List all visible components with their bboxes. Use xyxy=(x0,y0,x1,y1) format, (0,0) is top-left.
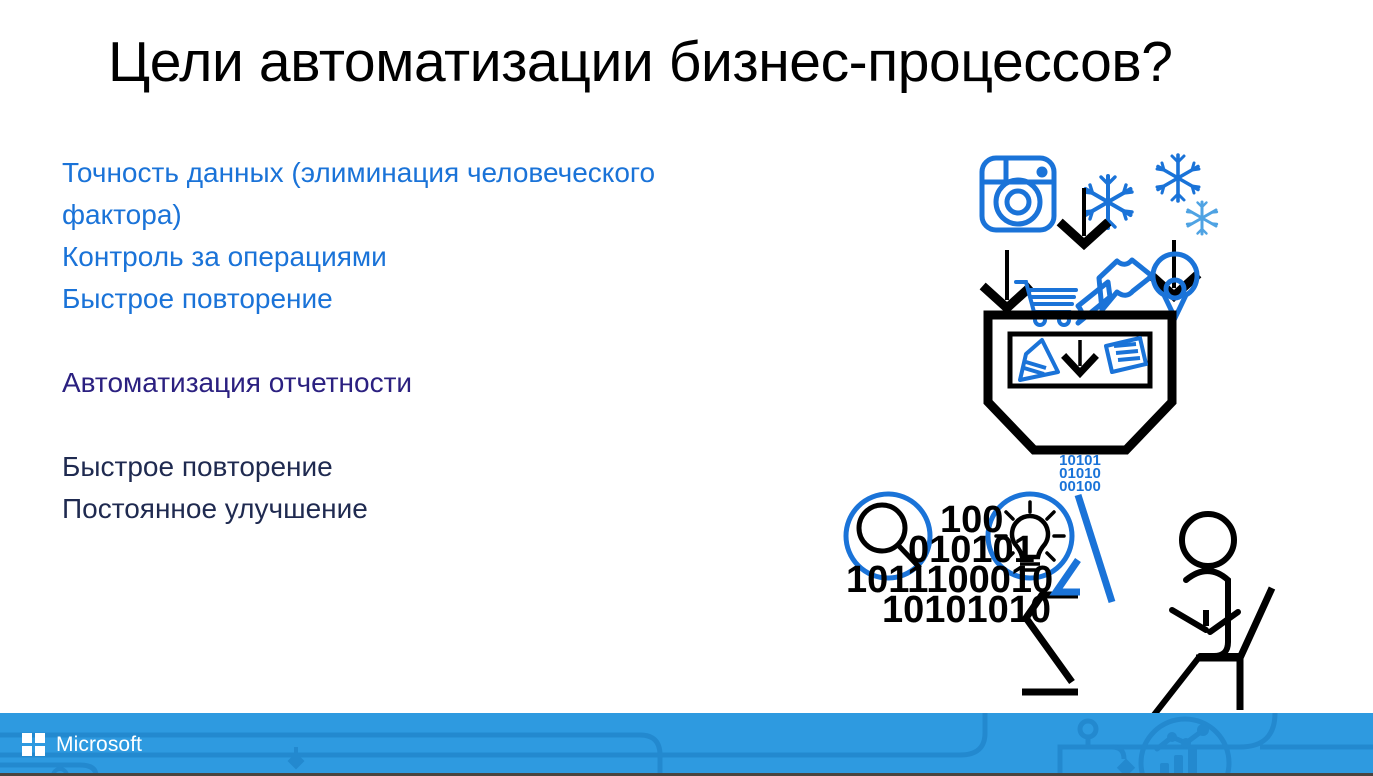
arrow-down-icon xyxy=(1153,240,1195,296)
page-title: Цели автоматизации бизнес-процессов? xyxy=(108,30,1288,96)
logo-square xyxy=(22,746,32,756)
footer-bar: Microsoft xyxy=(0,713,1373,776)
block-spacer xyxy=(62,320,822,362)
document-icon xyxy=(1020,340,1058,380)
binary-line: 10101010 xyxy=(882,589,1051,631)
microsoft-wordmark: Microsoft xyxy=(56,733,142,757)
goals-accuracy-block: Точность данных (элиминация человеческог… xyxy=(62,152,822,320)
text-line: Контроль за операциями xyxy=(62,236,822,278)
funnel-binary-text: 10101 01010 00100 xyxy=(1059,452,1101,495)
text-line: Быстрое повторение xyxy=(62,446,822,488)
text-line: Постоянное улучшение xyxy=(62,488,822,530)
logo-square xyxy=(35,746,45,756)
snowflake-icon xyxy=(1187,202,1217,234)
content-body: Точность данных (элиминация человеческог… xyxy=(62,152,822,530)
goals-reporting-block: Автоматизация отчетности xyxy=(62,362,822,404)
snowflake-icon xyxy=(1157,155,1199,201)
footer-circuit-pattern xyxy=(0,713,1373,776)
text-line: Точность данных (элиминация человеческог… xyxy=(62,152,822,194)
camera-icon xyxy=(982,158,1054,230)
data-funnel-illustration: 10101 01010 00100 xyxy=(820,140,1360,720)
funnel-connector-line xyxy=(1078,495,1112,602)
text-line: Автоматизация отчетности xyxy=(62,362,822,404)
text-line: Быстрое повторение xyxy=(62,278,822,320)
person-at-desk-icon xyxy=(1150,514,1240,720)
microsoft-logo xyxy=(22,733,45,756)
logo-square xyxy=(35,733,45,743)
slide-canvas: Цели автоматизации бизнес-процессов? Точ… xyxy=(0,0,1373,776)
binary-line: 00100 xyxy=(1059,478,1101,495)
snowflake-icon xyxy=(1084,176,1132,228)
logo-square xyxy=(22,733,32,743)
block-spacer xyxy=(62,404,822,446)
arrow-down-icon xyxy=(1066,340,1094,373)
arrow-down-icon xyxy=(986,250,1028,308)
document-icon xyxy=(1106,338,1146,372)
goals-improvement-block: Быстрое повторение Постоянное улучшение xyxy=(62,446,822,530)
text-line: фактора) xyxy=(62,194,822,236)
microsoft-brand: Microsoft xyxy=(22,733,142,757)
